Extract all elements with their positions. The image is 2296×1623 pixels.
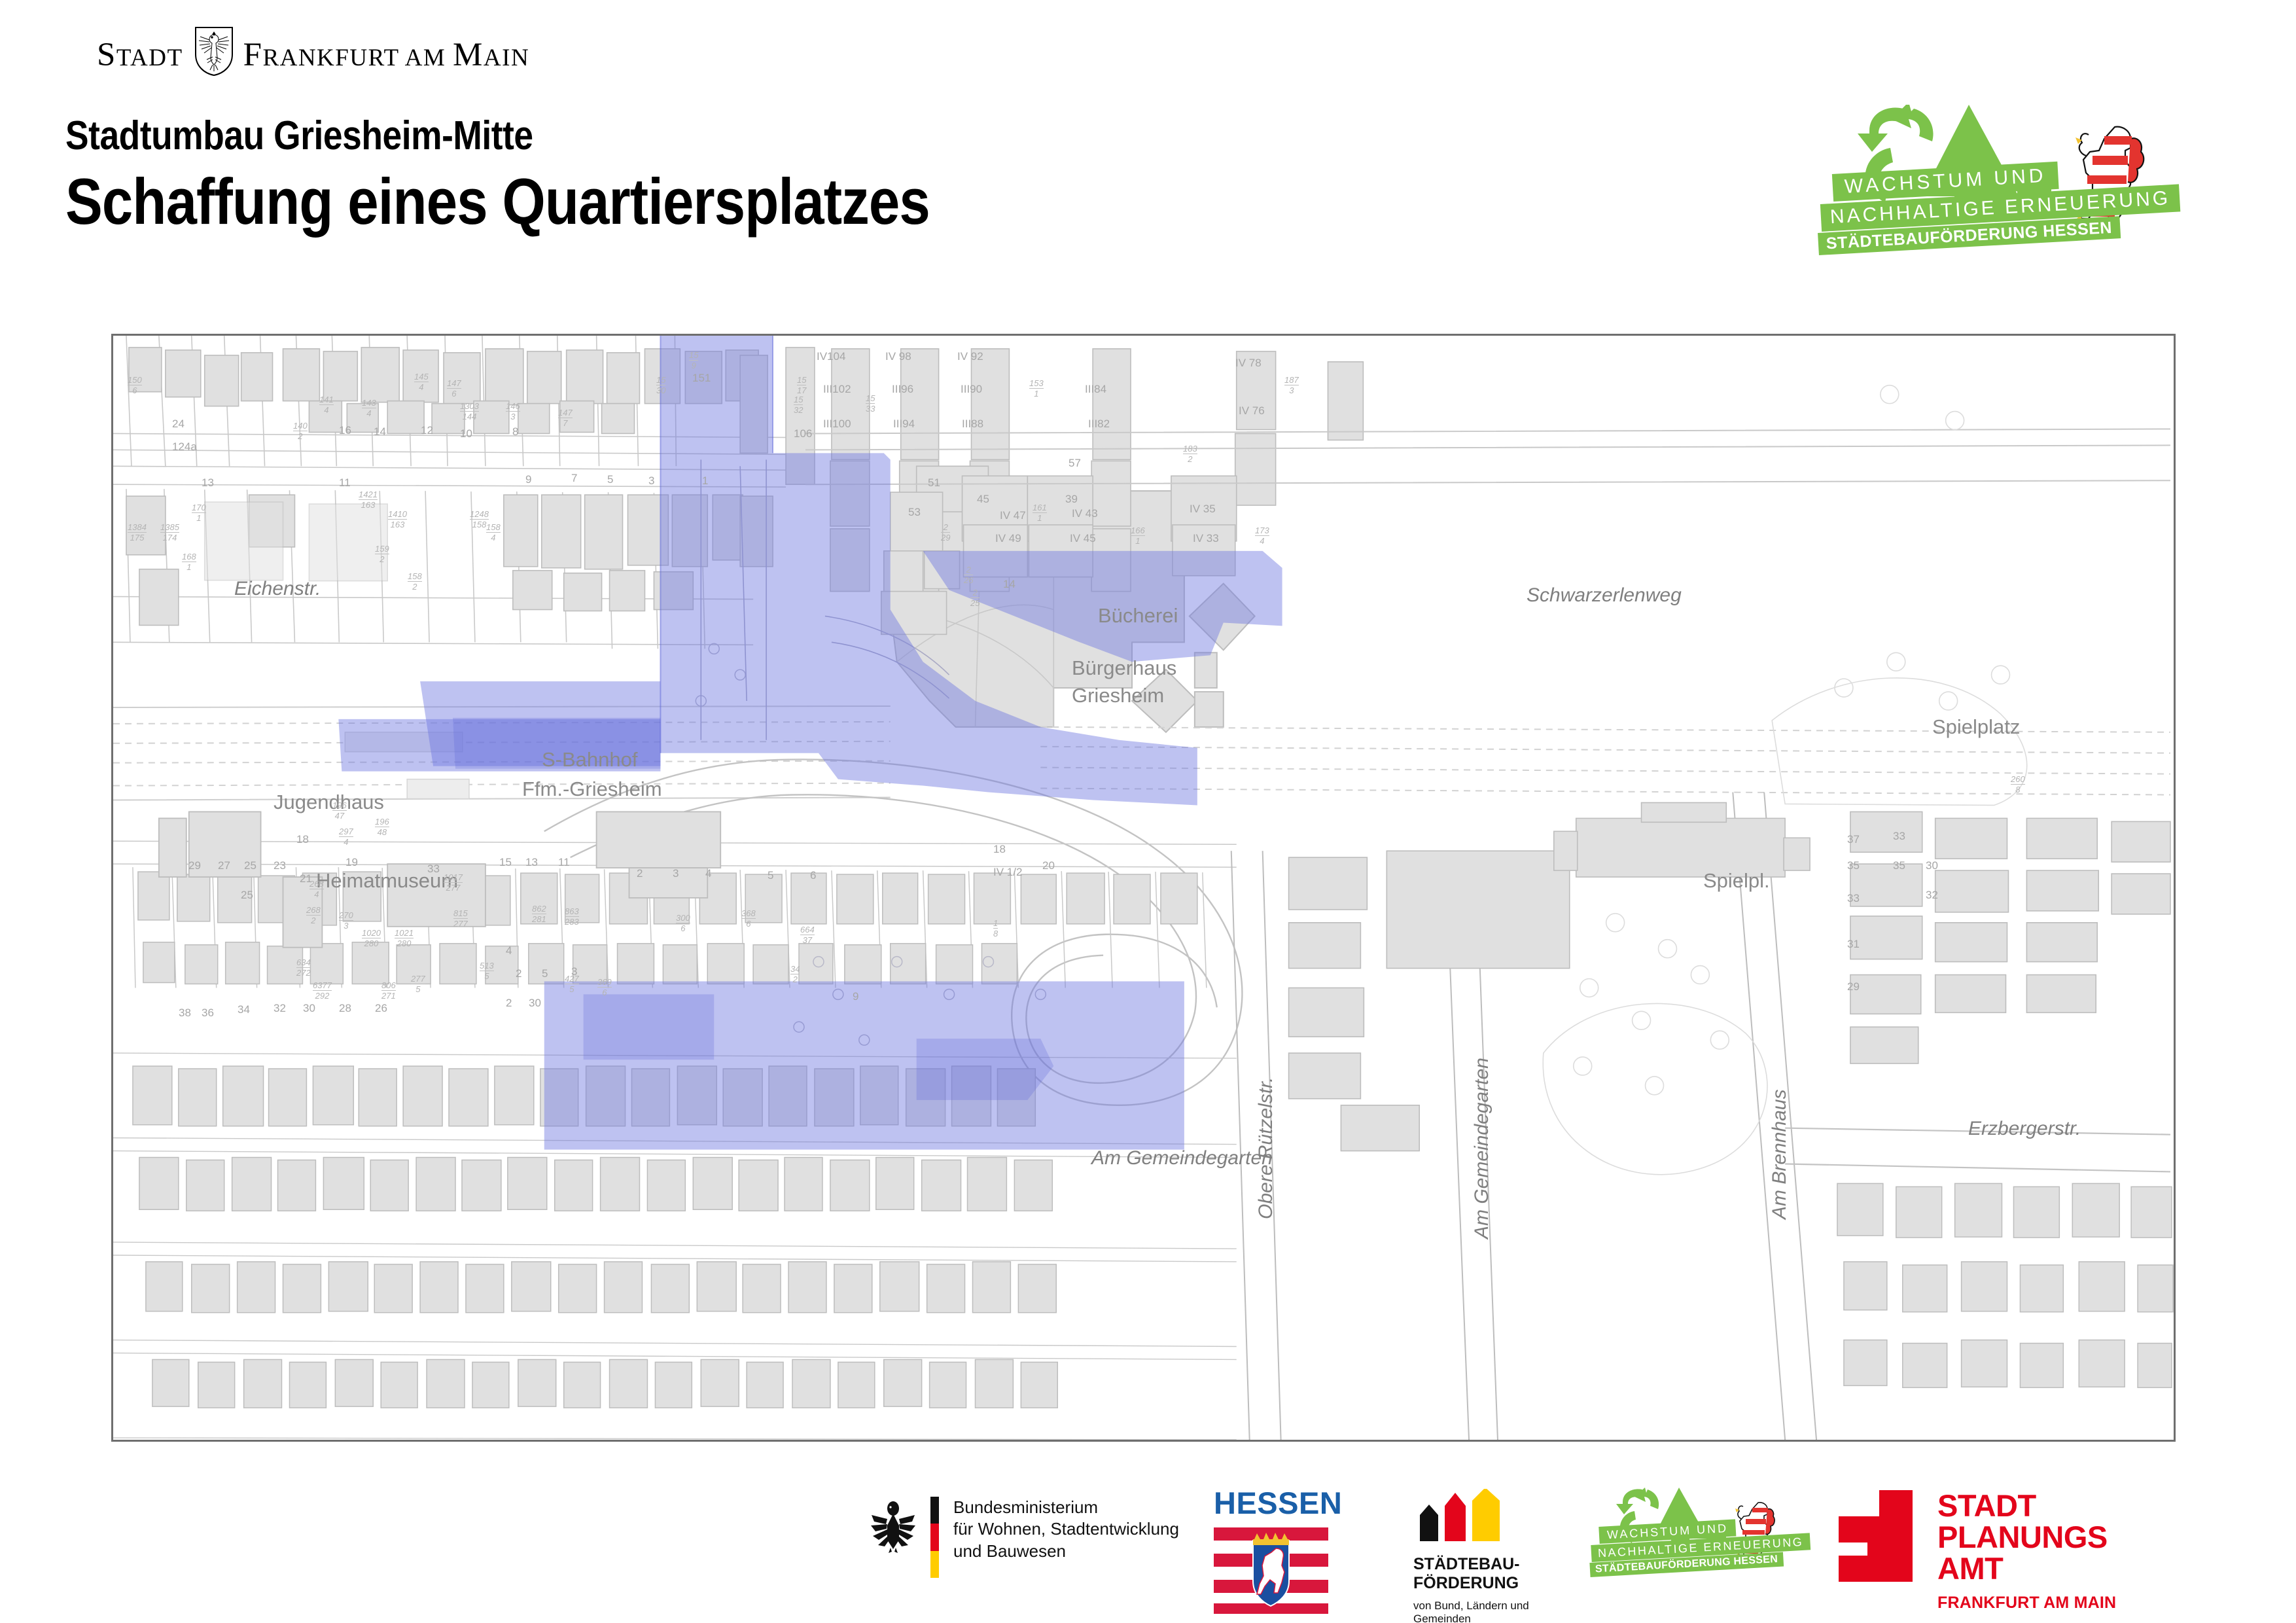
stbf-title: STÄDTEBAU- FÖRDERUNG — [1413, 1555, 1564, 1593]
hessen-wordmark: HESSEN — [1214, 1488, 1328, 1518]
poster-page: STADT FRANKFURT AM MAIN Stadtumbau Gries… — [0, 0, 2296, 1623]
spa-line3: AMT — [1937, 1553, 2116, 1584]
frankfurt-am-main-wordmark: FRANKFURT AM MAIN — [243, 39, 530, 72]
staedtebaufoerderung-logo: STÄDTEBAU- FÖRDERUNG von Bund, Ländern u… — [1413, 1489, 1564, 1623]
wachstum-erneuerung-logo-footer: WACHSTUM UND NACHHALTIGE ERNEUERUNG STÄD… — [1590, 1488, 1806, 1586]
spa-line1: STADT — [1937, 1490, 2116, 1522]
stadtplanungsamt-mark-icon — [1839, 1490, 1913, 1582]
bmwsb-line3: und Bauwesen — [953, 1541, 1179, 1562]
stbf-sub1: von Bund, Ländern und — [1413, 1599, 1564, 1613]
stbf-line1: STÄDTEBAU- — [1413, 1555, 1564, 1574]
bmwsb-line2: für Wohnen, Stadtentwicklung — [953, 1518, 1179, 1540]
wachstum-erneuerung-logo: WACHSTUM UND NACHHALTIGE ERNEUERUNG STÄD… — [1818, 105, 2224, 242]
bmwsb-text: Bundesministerium für Wohnen, Stadtentwi… — [953, 1497, 1179, 1562]
title-block: Stadtumbau Griesheim-Mitte Schaffung ein… — [65, 115, 1070, 236]
stadt-frankfurt-logo: STADT FRANKFURT AM MAIN — [97, 27, 529, 75]
map-vector-layer — [113, 336, 2174, 1440]
project-subtitle: Stadtumbau Griesheim-Mitte — [65, 115, 930, 157]
stadt-wordmark-left: STADT — [97, 39, 183, 72]
stbf-sub: von Bund, Ländern und Gemeinden — [1413, 1599, 1564, 1623]
footer-logo-bar: Bundesministerium für Wohnen, Stadtentwi… — [0, 1476, 2296, 1607]
frankfurt-eagle-crest-icon — [194, 26, 234, 77]
german-flag-bar-icon — [930, 1497, 939, 1578]
three-houses-icon — [1413, 1489, 1508, 1543]
spa-line2: PLANUNGS — [1937, 1522, 2116, 1553]
hessen-state-logo: HESSEN — [1214, 1488, 1328, 1617]
stbf-line2: FÖRDERUNG — [1413, 1574, 1564, 1593]
stadtplanungsamt-wordmark: STADT PLANUNGS AMT FRANKFURT AM MAIN — [1937, 1490, 2116, 1611]
page-title: Schaffung eines Quartiersplatzes — [65, 168, 930, 236]
spa-subline: FRANKFURT AM MAIN — [1937, 1595, 2116, 1612]
cadastral-map[interactable]: Eichenstr.SchwarzerlenwegAm Gemeindegart… — [111, 334, 2176, 1442]
federal-eagle-icon — [870, 1499, 916, 1553]
bmwsb-logo: Bundesministerium für Wohnen, Stadtentwi… — [870, 1497, 1179, 1578]
stbf-sub2: Gemeinden — [1413, 1613, 1564, 1623]
hessen-flag-icon — [1214, 1525, 1328, 1614]
bmwsb-line1: Bundesministerium — [953, 1497, 1179, 1518]
stadtplanungsamt-logo: STADT PLANUNGS AMT FRANKFURT AM MAIN — [1839, 1490, 2116, 1611]
